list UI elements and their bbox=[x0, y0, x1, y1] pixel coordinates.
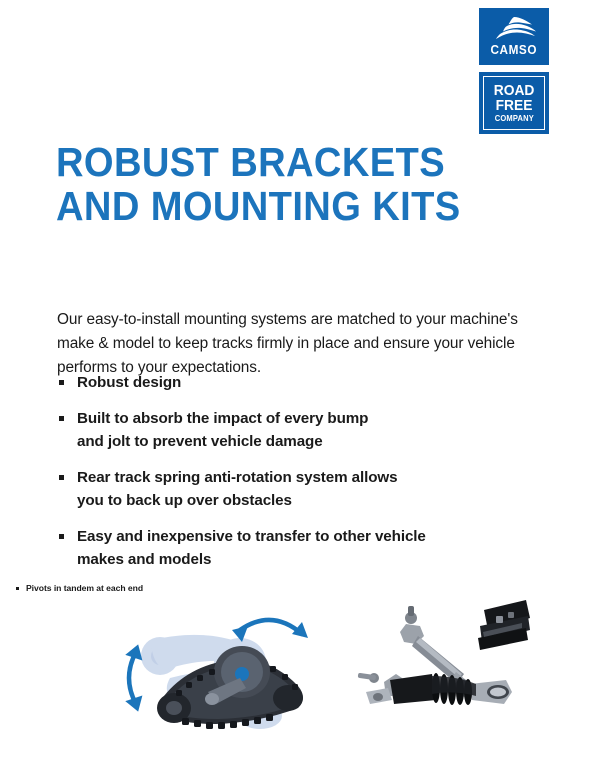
list-item-line-2: you to back up over obstacles bbox=[77, 489, 518, 512]
list-item: Easy and inexpensive to transfer to othe… bbox=[58, 525, 518, 571]
pivot-arrow-horizontal-icon bbox=[240, 620, 302, 634]
rubber-track-system-illustration bbox=[112, 600, 327, 735]
list-item-line-1: Rear track spring anti-rotation system a… bbox=[77, 466, 518, 489]
bullet-square-icon bbox=[59, 416, 64, 421]
page-title-line-2: AND MOUNTING KITS bbox=[56, 184, 461, 228]
page-title: ROBUST BRACKETS AND MOUNTING KITS bbox=[56, 140, 461, 228]
footnote: Pivots in tandem at each end bbox=[16, 583, 143, 593]
camso-chevron-icon bbox=[492, 15, 536, 41]
list-item-line-1: Robust design bbox=[77, 371, 518, 394]
pivot-arrow-vertical-icon bbox=[129, 652, 136, 704]
list-item-line-1: Easy and inexpensive to transfer to othe… bbox=[77, 525, 518, 548]
bullet-square-icon bbox=[59, 475, 64, 480]
list-item: Rear track spring anti-rotation system a… bbox=[58, 466, 518, 512]
road-free-company-badge: ROAD FREE COMPANY bbox=[479, 72, 549, 134]
feature-list: Robust design Built to absorb the impact… bbox=[58, 371, 518, 584]
bullet-square-icon bbox=[59, 380, 64, 385]
badge-line-free: FREE bbox=[496, 98, 533, 113]
footnote-text: Pivots in tandem at each end bbox=[26, 583, 143, 593]
badge-line-road: ROAD bbox=[494, 83, 535, 98]
mounting-hardware-photo bbox=[336, 596, 531, 728]
bullet-square-icon bbox=[59, 534, 64, 539]
list-item: Built to absorb the impact of every bump… bbox=[58, 407, 518, 453]
list-item: Robust design bbox=[58, 371, 518, 394]
badge-line-company: COMPANY bbox=[494, 115, 533, 123]
list-item-line-1: Built to absorb the impact of every bump bbox=[77, 407, 518, 430]
page-title-line-1: ROBUST BRACKETS bbox=[56, 140, 461, 184]
camso-logo: CAMSO ROAD FREE COMPANY bbox=[479, 8, 549, 134]
intro-paragraph: Our easy-to-install mounting systems are… bbox=[57, 308, 527, 380]
camso-wordmark: CAMSO bbox=[491, 44, 538, 57]
footnote-bullet-square-icon bbox=[16, 587, 19, 590]
camso-logo-block: CAMSO bbox=[479, 8, 549, 65]
list-item-line-2: makes and models bbox=[77, 548, 518, 571]
pivot-arrow-vertical-head-down bbox=[125, 696, 146, 715]
list-item-line-2: and jolt to prevent vehicle damage bbox=[77, 430, 518, 453]
black-bracket-part bbox=[478, 600, 530, 650]
